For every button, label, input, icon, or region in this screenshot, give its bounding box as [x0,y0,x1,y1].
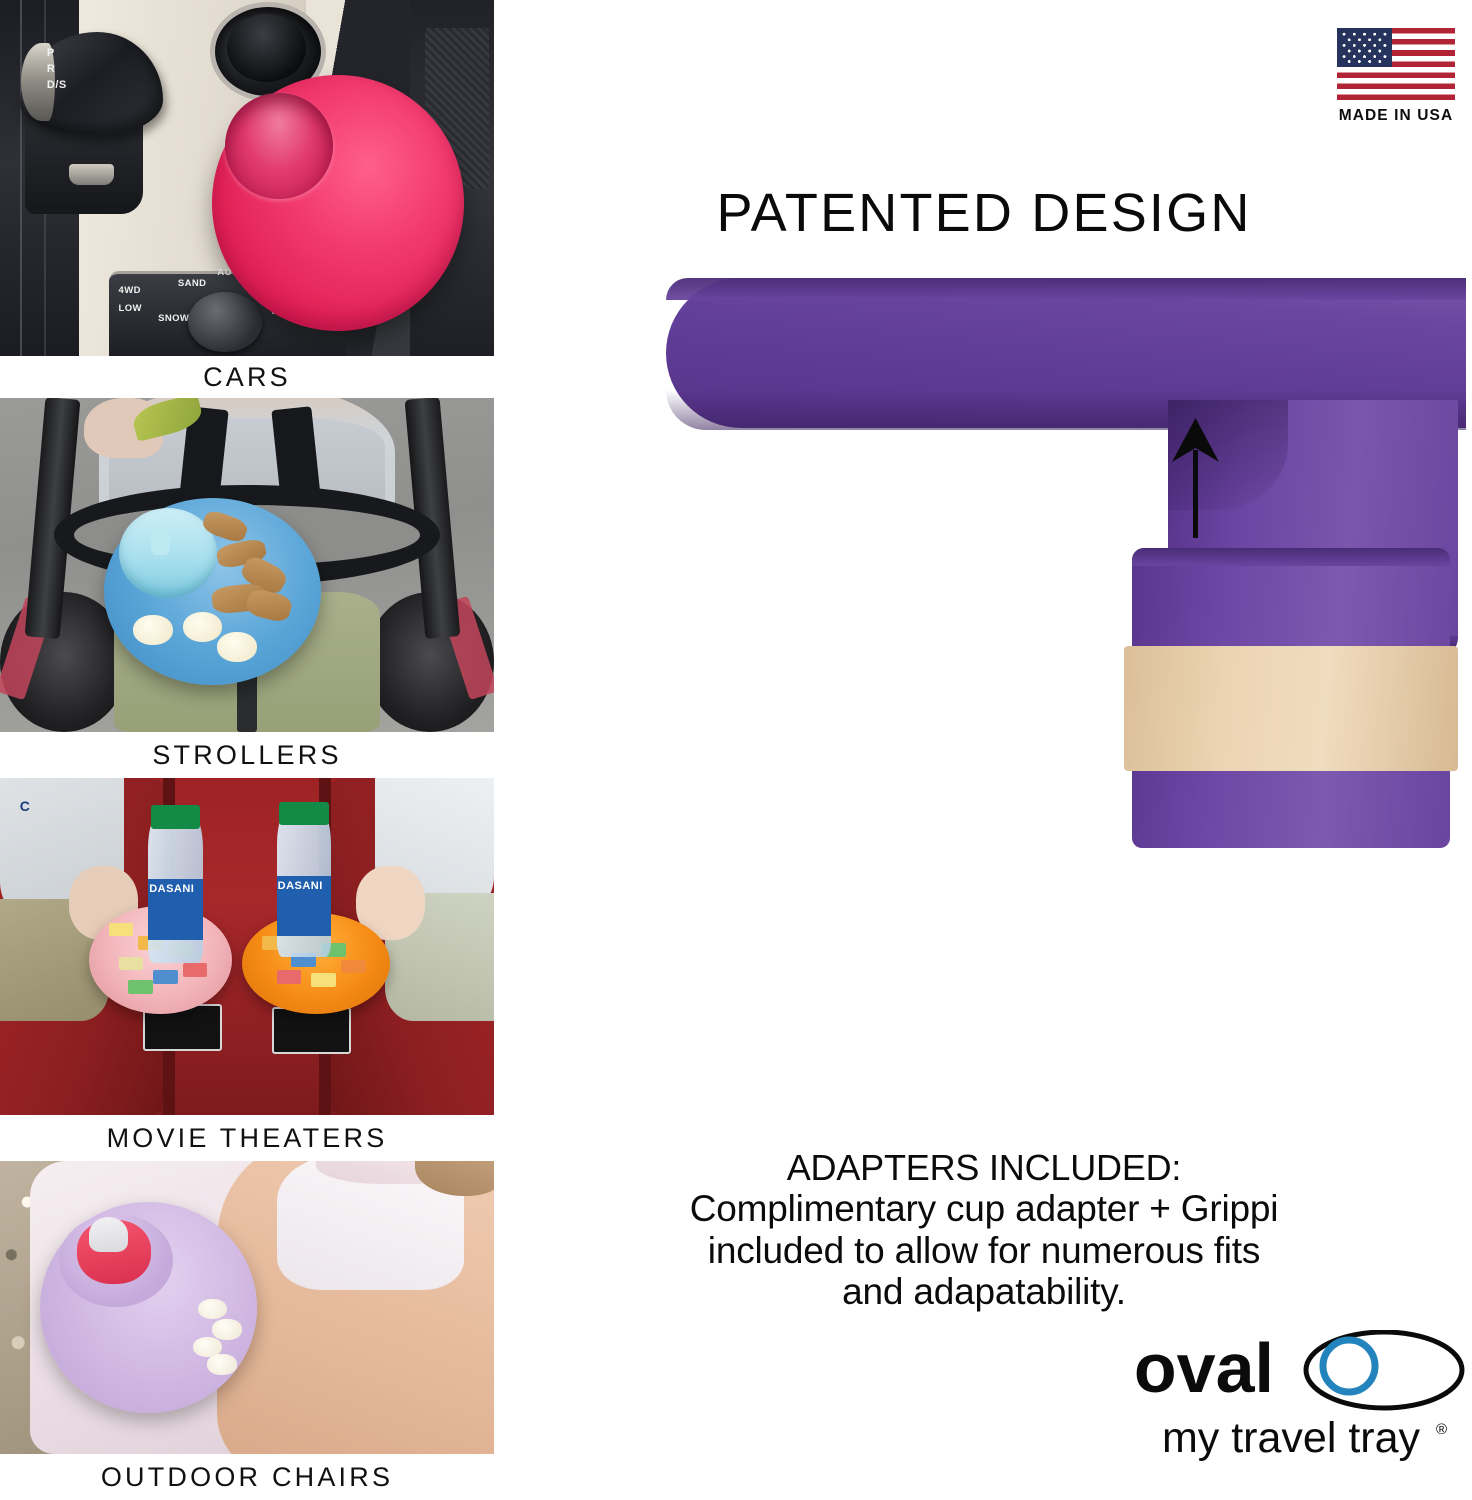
shirt-logo: C [20,798,60,845]
use-case-caption-movie-theaters: MOVIE THEATERS [0,1115,494,1161]
adapters-headline: ADAPTERS INCLUDED: [496,1148,1472,1188]
made-in-usa-badge: MADE IN USA [1332,28,1460,125]
grippi-band [1124,646,1458,771]
use-case-photo-strollers [0,398,494,732]
use-case-photo-cars: PRD/S 4WD LOW SAND AUTO M SNOW ROCK [0,0,494,356]
use-case-gallery: PRD/S 4WD LOW SAND AUTO M SNOW ROCK [0,0,496,1500]
page-title: PATENTED DESIGN [496,182,1472,244]
logo-tagline: my travel tray [1162,1414,1421,1462]
made-in-usa-label: MADE IN USA [1332,107,1460,125]
bottle-label-left: DASANI [148,879,202,895]
cup-adapter-rim [1132,548,1450,566]
use-case-movie-theaters: C [0,778,494,1161]
use-case-caption-outdoor-chairs: OUTDOOR CHAIRS [0,1454,494,1500]
product-marketing-image: PRD/S 4WD LOW SAND AUTO M SNOW ROCK [0,0,1472,1500]
use-case-caption-cars: CARS [0,356,494,398]
shifter-labels: PRD/S [47,46,82,117]
adapters-included-text: ADAPTERS INCLUDED: Complimentary cup ada… [496,1148,1472,1313]
oval-tray-rim [666,278,1466,300]
use-case-photo-outdoor-chairs [0,1161,494,1454]
registered-trademark-mark: ® [1436,1421,1447,1438]
up-arrow-icon [1166,418,1226,538]
use-case-outdoor-chairs: OUTDOOR CHAIRS [0,1161,494,1500]
use-case-cars: PRD/S 4WD LOW SAND AUTO M SNOW ROCK [0,0,494,398]
product-panel: MADE IN USA PATENTED DESIGN [496,0,1472,1500]
use-case-photo-movie-theaters: C [0,778,494,1115]
adapters-line-3: included to allow for numerous fits [496,1230,1472,1271]
brand-logo: oval my travel tray ® [1106,1330,1466,1470]
product-illustration-adapter [496,528,1472,868]
usa-flag-icon [1337,28,1455,100]
bottle-label-right: DASANI [277,876,331,892]
adapters-line-4: and adapatability. [496,1271,1472,1312]
use-case-caption-strollers: STROLLERS [0,732,494,778]
adapters-line-2: Complimentary cup adapter + Grippi [496,1188,1472,1229]
logo-wordmark: oval [1134,1330,1274,1407]
use-case-strollers: STROLLERS [0,398,494,778]
